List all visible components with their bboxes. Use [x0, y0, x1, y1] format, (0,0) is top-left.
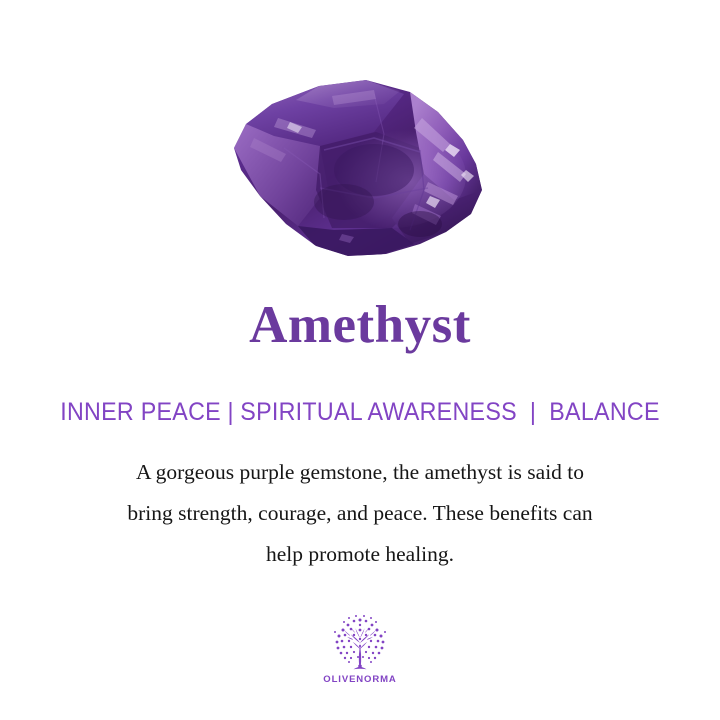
- keyword-balance: BALANCE: [549, 398, 659, 426]
- keyword-line: INNER PEACE|SPIRITUAL AWARENESS|BALANCE: [25, 398, 695, 427]
- tree-logo-icon: [329, 612, 391, 672]
- brand-logo: OLIVENORMA: [0, 612, 720, 685]
- description-paragraph: A gorgeous purple gemstone, the amethyst…: [50, 452, 670, 575]
- keyword-separator: |: [221, 398, 240, 427]
- description-line: help promote healing.: [50, 534, 670, 575]
- brand-name: OLIVENORMA: [0, 674, 720, 685]
- page-title: Amethyst: [0, 298, 720, 354]
- amethyst-stone-image: [224, 78, 492, 266]
- keyword-spiritual-awareness: SPIRITUAL AWARENESS: [240, 398, 517, 426]
- description-line: A gorgeous purple gemstone, the amethyst…: [50, 452, 670, 493]
- hero-image-area: [0, 60, 720, 275]
- amethyst-info-card: Amethyst INNER PEACE|SPIRITUAL AWARENESS…: [0, 0, 720, 720]
- keyword-separator: |: [517, 398, 549, 427]
- keyword-inner-peace: INNER PEACE: [60, 398, 221, 426]
- description-line: bring strength, courage, and peace. Thes…: [50, 493, 670, 534]
